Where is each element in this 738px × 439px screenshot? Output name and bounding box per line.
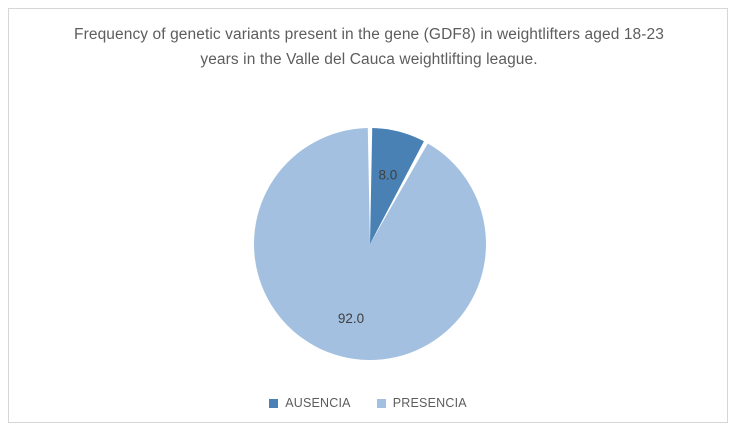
chart-legend: AUSENCIA PRESENCIA <box>9 396 727 410</box>
legend-item-ausencia[interactable]: AUSENCIA <box>269 396 351 410</box>
legend-label-presencia: PRESENCIA <box>393 396 467 410</box>
legend-label-ausencia: AUSENCIA <box>285 396 351 410</box>
pie-chart-plot-area: 8.0 92.0 <box>9 9 727 422</box>
pie-slice-label-presencia: 92.0 <box>338 311 364 326</box>
pie-slices <box>254 128 486 360</box>
pie-slice-label-ausencia: 8.0 <box>379 167 398 182</box>
pie-svg: 8.0 92.0 <box>9 9 727 422</box>
legend-swatch-icon <box>377 399 386 408</box>
pie-slice-presencia[interactable] <box>254 128 486 360</box>
legend-item-presencia[interactable]: PRESENCIA <box>377 396 467 410</box>
chart-frame: Frequency of genetic variants present in… <box>8 8 728 423</box>
legend-swatch-icon <box>269 399 278 408</box>
